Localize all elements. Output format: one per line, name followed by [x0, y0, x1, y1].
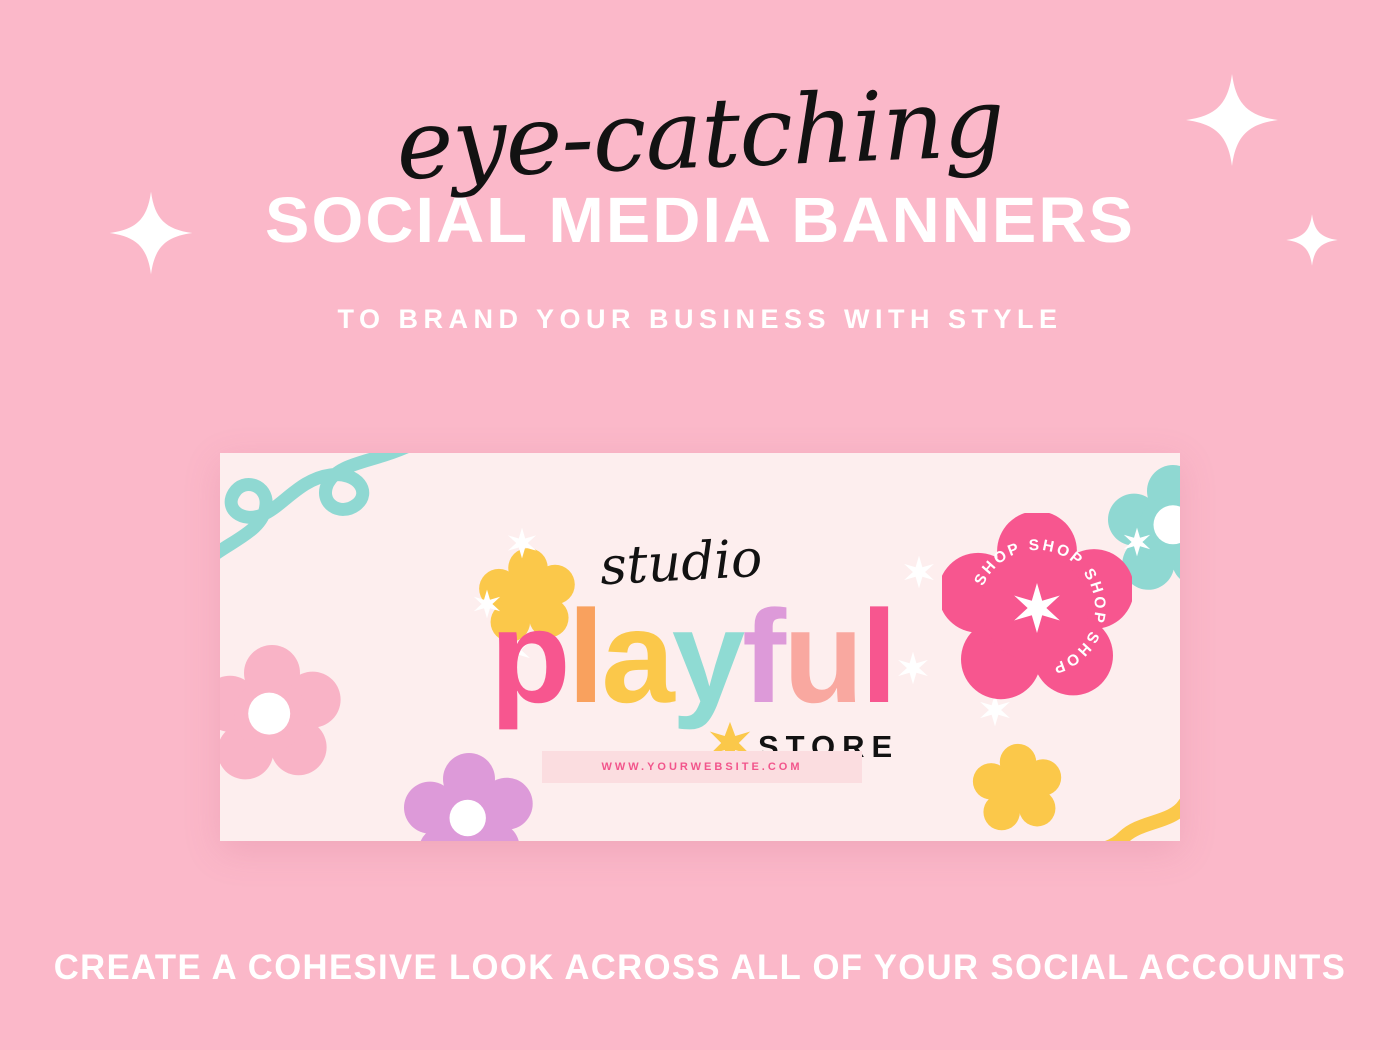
shop-badge[interactable]: SHOP SHOP SHOP SHOP [942, 513, 1132, 703]
banner-mockup[interactable]: SHOP SHOP SHOP SHOP playful studio STORE… [220, 453, 1180, 841]
promo-headline-block: eye-catching SOCIAL MEDIA BANNERS TO BRA… [0, 0, 1400, 335]
logo-script-word: studio [599, 529, 764, 597]
logo-letter-5: u [783, 591, 861, 723]
logo-letter-1: l [568, 591, 602, 723]
teal-squiggle-decoration [220, 453, 420, 623]
website-url-bar[interactable]: WWW.YOURWEBSITE.COM [542, 751, 862, 783]
bottom-caption: CREATE A COHESIVE LOOK ACROSS ALL OF YOU… [7, 948, 1393, 988]
sub-headline: TO BRAND YOUR BUSINESS WITH STYLE [0, 304, 1400, 335]
logo-wordmark: playful [490, 591, 894, 723]
logo-letter-6: l [861, 591, 895, 723]
logo-letter-4: f [742, 591, 783, 723]
logo-letter-0: p [490, 591, 568, 723]
logo-lockup: playful studio STORE [490, 533, 910, 763]
purple-flower-decoration [404, 753, 534, 841]
pink-flower-decoration [220, 645, 342, 785]
logo-letter-2: a [601, 591, 671, 723]
logo-letter-3: y [672, 591, 742, 723]
star-icon-badge-center [1011, 582, 1063, 634]
page-title: SOCIAL MEDIA BANNERS [0, 188, 1400, 252]
yellow-flower-decoration-bottom [970, 741, 1066, 837]
website-url-text: WWW.YOURWEBSITE.COM [601, 761, 802, 773]
